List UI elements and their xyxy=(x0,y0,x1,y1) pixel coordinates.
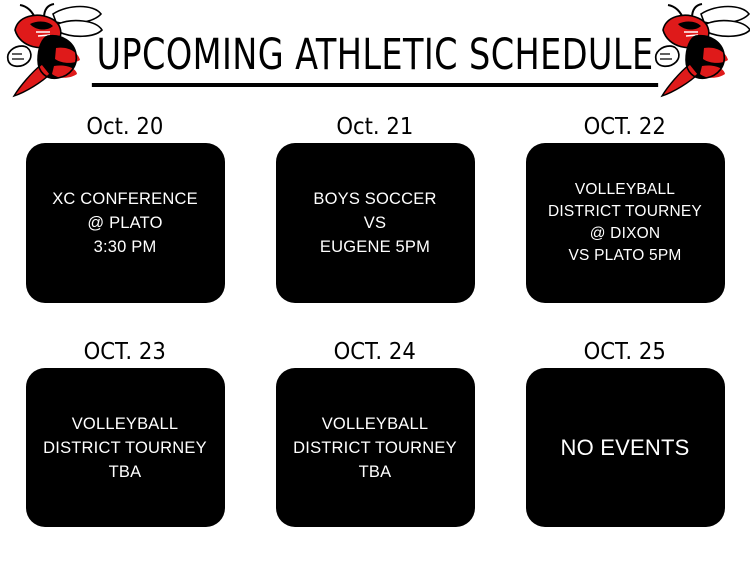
event-line: BOYS SOCCER xyxy=(313,187,436,211)
event-line: TBA xyxy=(109,460,142,484)
event-line: VOLLEYBALL xyxy=(322,412,429,436)
page-title-text: UPCOMING ATHLETIC SCHEDULE xyxy=(92,30,658,87)
event-line: @ PLATO xyxy=(87,211,162,235)
event-line: DISTRICT TOURNEY xyxy=(548,201,702,223)
event-line: DISTRICT TOURNEY xyxy=(293,436,457,460)
schedule-cell: OCT. 24 VOLLEYBALL DISTRICT TOURNEY TBA xyxy=(260,333,490,558)
event-card[interactable]: VOLLEYBALL DISTRICT TOURNEY TBA xyxy=(276,368,475,527)
event-card[interactable]: VOLLEYBALL DISTRICT TOURNEY TBA xyxy=(26,368,225,527)
event-line: VS PLATO 5PM xyxy=(569,245,682,267)
schedule-cell: OCT. 22 VOLLEYBALL DISTRICT TOURNEY @ DI… xyxy=(510,108,740,333)
hornet-mascot-icon-right xyxy=(646,2,750,98)
event-line: DISTRICT TOURNEY xyxy=(43,436,207,460)
page-header: UPCOMING ATHLETIC SCHEDULE xyxy=(0,0,750,108)
date-label: OCT. 22 xyxy=(584,114,666,140)
page-title: UPCOMING ATHLETIC SCHEDULE xyxy=(83,30,668,87)
event-line: @ DIXON xyxy=(590,223,661,245)
event-line: VOLLEYBALL xyxy=(575,179,675,201)
event-line: VOLLEYBALL xyxy=(72,412,179,436)
event-line: EUGENE 5PM xyxy=(320,235,430,259)
event-line: TBA xyxy=(359,460,392,484)
date-label: OCT. 24 xyxy=(334,339,416,365)
date-label: Oct. 20 xyxy=(87,114,164,140)
schedule-cell: OCT. 25 NO EVENTS xyxy=(510,333,740,558)
event-line: XC CONFERENCE xyxy=(52,187,198,211)
date-label: OCT. 25 xyxy=(584,339,666,365)
event-line: VS xyxy=(364,211,386,235)
schedule-grid: Oct. 20 XC CONFERENCE @ PLATO 3:30 PM Oc… xyxy=(0,108,750,580)
date-label: Oct. 21 xyxy=(337,114,414,140)
event-card[interactable]: BOYS SOCCER VS EUGENE 5PM xyxy=(276,143,475,303)
schedule-cell: OCT. 23 VOLLEYBALL DISTRICT TOURNEY TBA xyxy=(10,333,240,558)
event-line: 3:30 PM xyxy=(94,235,157,259)
schedule-cell: Oct. 20 XC CONFERENCE @ PLATO 3:30 PM xyxy=(10,108,240,333)
event-card[interactable]: XC CONFERENCE @ PLATO 3:30 PM xyxy=(26,143,225,303)
date-label: OCT. 23 xyxy=(84,339,166,365)
event-card[interactable]: NO EVENTS xyxy=(526,368,725,527)
event-card[interactable]: VOLLEYBALL DISTRICT TOURNEY @ DIXON VS P… xyxy=(526,143,725,303)
schedule-cell: Oct. 21 BOYS SOCCER VS EUGENE 5PM xyxy=(260,108,490,333)
event-line: NO EVENTS xyxy=(561,434,690,462)
